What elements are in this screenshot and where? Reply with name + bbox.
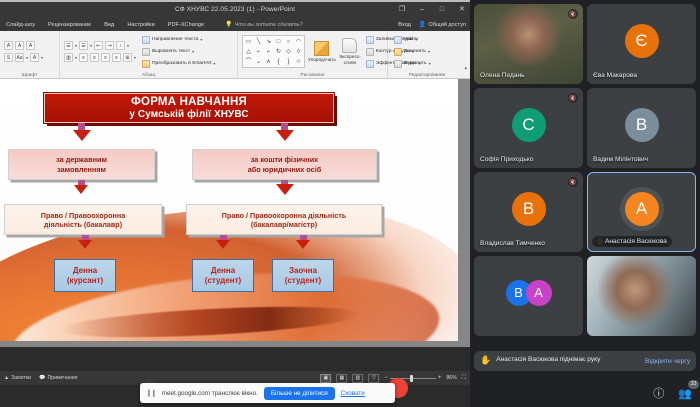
program-left-line1: Право / Правоохоронна — [41, 211, 125, 220]
arrange-icon — [314, 41, 329, 56]
tell-me-placeholder: Что вы хотите сделать? — [235, 22, 303, 28]
hide-toast-link[interactable]: Сховати — [341, 390, 365, 397]
ribbon-group-editing: Найти Заменить ▾ — [388, 31, 466, 78]
tell-me-search[interactable]: 💡 Что вы хотите сделать? — [225, 21, 302, 28]
arrow-down-icon — [74, 185, 88, 194]
participant-name: Анастасія Васюкова — [592, 236, 672, 247]
slide-title-line2: у Сумській філії ХНУВС — [129, 109, 248, 120]
replace-icon — [394, 48, 402, 56]
shape-cell[interactable]: ⌐ — [254, 47, 263, 56]
slide-canvas[interactable]: ФОРМА НАВЧАННЯ у Сумській філії ХНУВС за… — [0, 79, 458, 341]
shape-cell[interactable]: ↻ — [274, 47, 283, 56]
participant-name: Вадим Мілінтович — [593, 156, 648, 163]
smartart-icon — [142, 60, 150, 68]
convert-smartart-label: Преобразовать в SmartArt — [152, 61, 211, 66]
arrow-down-icon — [216, 240, 230, 249]
participant-video — [587, 256, 696, 336]
replace-label: Заменить — [404, 49, 426, 54]
avatar: С — [512, 108, 546, 142]
powerpoint-ribbon: A A A S Aa ▾ A ▾ Шрифт — [0, 31, 470, 79]
share-button[interactable]: 👤 Общий доступ — [419, 21, 466, 28]
shape-cell[interactable]: □ — [274, 37, 283, 46]
columns-button[interactable]: ▥ — [64, 53, 73, 62]
shape-cell[interactable]: } — [284, 57, 293, 66]
align-text-label: Выровнять текст — [152, 49, 190, 54]
mic-off-icon: 🔇 — [568, 93, 578, 103]
convert-smartart-button[interactable]: Преобразовать в SmartArt ▾ — [140, 59, 217, 69]
arrow-down-icon — [276, 130, 294, 141]
close-button[interactable]: ✕ — [457, 5, 467, 15]
people-count-badge: 33 — [688, 380, 699, 389]
participant-tile[interactable]: В 🔇 Владислав Тимченко — [474, 172, 583, 252]
form-2-line1: Денна — [211, 266, 235, 276]
slide-title-line1: ФОРМА НАВЧАННЯ — [131, 96, 247, 108]
quick-styles-icon — [342, 38, 357, 53]
participant-tile-active-speaker[interactable]: А ✋ Анастасія Васюкова — [587, 172, 696, 252]
powerpoint-menubar: Слайд-шоу Рецензирование Вид Настройки P… — [0, 18, 470, 31]
status-bar-left: ▲ Заметки 💬 Примечания — [4, 375, 77, 381]
font-case-button[interactable]: Aa — [15, 53, 24, 62]
zoom-in-button[interactable]: + — [438, 375, 442, 381]
powerpoint-titlebar: СФ ХНУВС 22.05.2023 (1) - PowerPoint ❐ –… — [0, 0, 470, 18]
find-label: Найти — [404, 37, 418, 42]
funding-private-line1: за кошти фізичних — [251, 155, 319, 164]
line-spacing-caret-icon[interactable]: ▾ — [127, 43, 129, 48]
select-icon — [394, 60, 402, 68]
zoom-out-button[interactable]: − — [384, 375, 388, 381]
shapes-gallery[interactable]: ▭ ╲ ↘ □ ○ ◠ △ ⌐ ⌐ ↻ ◇ ◊ ⌒ — [242, 35, 305, 68]
smartart-caret-icon: ▾ — [213, 61, 215, 66]
menubar-right: Вход 👤 Общий доступ — [398, 21, 466, 28]
shape-cell[interactable]: ↘ — [264, 37, 273, 46]
select-label: Выделить — [404, 61, 427, 66]
slide-editing-area: ФОРМА НАВЧАННЯ у Сумській філії ХНУВС за… — [0, 79, 470, 347]
font-color-button[interactable]: A — [30, 53, 39, 62]
avatar: А — [526, 280, 552, 306]
hand-raised-icon: ✋ — [480, 356, 491, 366]
funding-state-line1: за державним — [56, 155, 107, 164]
form-2-line2: (студент) — [205, 276, 241, 286]
program-box-left[interactable]: Право / Правоохоронна діяльність (бакала… — [4, 204, 162, 235]
grouped-avatars: В А — [506, 280, 552, 306]
shape-cell[interactable]: △ — [244, 47, 253, 56]
columns-caret-icon[interactable]: ▾ — [75, 55, 77, 60]
avatar: В — [625, 108, 659, 142]
window-controls: ❐ – □ ✕ — [397, 5, 467, 15]
bullets-caret-icon[interactable]: ▾ — [75, 43, 77, 48]
align-text-button[interactable]: Выровнять текст ▾ — [140, 47, 196, 57]
participant-name: Єва Макарова — [593, 72, 637, 79]
ribbon-group-font: A A A S Aa ▾ A ▾ Шрифт — [0, 31, 60, 78]
restore-button[interactable]: ❐ — [397, 5, 407, 15]
view-sorter-button[interactable]: ▦ — [336, 374, 347, 383]
funding-private-line2: або юридичних осіб — [248, 165, 322, 174]
avatar: А — [625, 192, 659, 226]
funding-box-private[interactable]: за кошти фізичних або юридичних осіб — [192, 149, 377, 180]
form-box-distance-student[interactable]: Заочна (студент) — [272, 259, 334, 292]
shape-cell[interactable]: ◊ — [294, 47, 303, 56]
search-icon — [394, 36, 402, 44]
find-button[interactable]: Найти — [392, 35, 420, 45]
form-3-line1: Заочна — [289, 266, 317, 276]
quick-styles-button[interactable]: Экспресс-стили — [339, 34, 361, 70]
mic-off-icon: 🔇 — [568, 9, 578, 19]
arrow-down-icon — [296, 240, 310, 249]
participant-name: Олена Педань — [480, 72, 525, 79]
shape-cell[interactable]: ╲ — [254, 37, 263, 46]
program-box-right[interactable]: Право / Правоохоронна діяльність (бакала… — [186, 204, 382, 235]
shape-cell[interactable]: { — [274, 57, 283, 66]
program-right-line1: Право / Правоохоронна діяльність — [222, 211, 346, 220]
clear-format-button[interactable]: A — [26, 41, 35, 50]
form-box-day-cadet[interactable]: Денна (курсант) — [54, 259, 116, 292]
decrease-indent-button[interactable]: ⇤ — [94, 41, 103, 50]
slide-title-box[interactable]: ФОРМА НАВЧАННЯ у Сумській філії ХНУВС — [44, 93, 334, 123]
shape-cell[interactable]: ⌒ — [244, 57, 253, 66]
notes-button[interactable]: ▲ Заметки — [4, 375, 31, 381]
powerpoint-window: СФ ХНУВС 22.05.2023 (1) - PowerPoint ❐ –… — [0, 0, 470, 407]
align-justify-button[interactable]: ≡ — [112, 53, 121, 62]
shape-cell[interactable]: ⌄ — [254, 57, 263, 66]
shape-cell[interactable]: ∧ — [264, 57, 273, 66]
pause-icon[interactable]: ❙❙ — [146, 389, 156, 397]
text-direction-icon — [142, 36, 150, 44]
funding-box-state[interactable]: за державним замовленням — [8, 149, 155, 180]
shape-cell[interactable]: ⌐ — [264, 47, 273, 56]
view-reading-button[interactable]: ▥ — [352, 374, 363, 383]
stop-sharing-button[interactable]: Більше не ділитися — [264, 387, 335, 400]
comments-icon: 💬 — [39, 375, 45, 381]
menu-item-review[interactable]: Рецензирование — [48, 22, 91, 28]
ribbon-group-paragraph: ☰ ▾ ☰ ▾ ⇤ ⇥ ↕ ▾ ▥ ▾ — [60, 31, 238, 78]
bullets-button[interactable]: ☰ — [64, 41, 73, 50]
shape-cell[interactable]: ◇ — [284, 47, 293, 56]
increase-indent-button[interactable]: ⇥ — [105, 41, 114, 50]
font-color-caret-icon[interactable]: ▾ — [41, 55, 43, 60]
notes-icon: ▲ — [4, 375, 9, 381]
font-grow-button[interactable]: A — [4, 41, 13, 50]
avatar: В — [512, 192, 546, 226]
replace-button[interactable]: Заменить ▾ — [392, 47, 432, 57]
arrange-label: Упорядочить — [308, 57, 336, 62]
people-icon[interactable]: 👥 33 — [678, 387, 692, 400]
text-direction-button[interactable]: Направление текста ▾ — [140, 35, 204, 45]
shape-cell[interactable]: ☆ — [294, 57, 303, 66]
info-icon[interactable]: ⓘ — [653, 385, 664, 401]
ribbon-group-label-drawing: Рисование — [238, 73, 387, 78]
form-box-day-student[interactable]: Денна (студент) — [192, 259, 254, 292]
quick-styles-label: Экспресс-стили — [339, 54, 361, 65]
screen: СФ ХНУВС 22.05.2023 (1) - PowerPoint ❐ –… — [0, 0, 700, 407]
add-columns-button[interactable]: ⊞ — [123, 53, 132, 62]
text-direction-label: Направление текста — [152, 37, 198, 42]
participant-name: Софія Приходько — [480, 156, 533, 163]
maximize-button[interactable]: □ — [437, 5, 447, 15]
form-3-line2: (студент) — [285, 276, 321, 286]
line-spacing-button[interactable]: ↕ — [116, 41, 125, 50]
numbering-caret-icon[interactable]: ▾ — [90, 43, 92, 48]
participant-tile[interactable]: 🔇 Олена Педань — [474, 4, 583, 84]
participant-tile-group[interactable]: В А — [474, 256, 583, 336]
arrow-down-icon — [276, 184, 294, 195]
numbering-button[interactable]: ☰ — [79, 41, 88, 50]
view-slideshow-button[interactable]: ▽ — [368, 374, 379, 383]
form-1-line1: Денна — [73, 266, 97, 276]
minimize-button[interactable]: – — [417, 5, 427, 15]
participant-tile[interactable]: С 🔇 Софія Приходько — [474, 88, 583, 168]
ribbon-group-drawing: ▭ ╲ ↘ □ ○ ◠ △ ⌐ ⌐ ↻ ◇ ◊ ⌒ — [238, 31, 388, 78]
meet-bottom-bar: ✋ Анастасія Васюкова піднімає руку Відкр… — [470, 340, 700, 407]
align-right-button[interactable]: ≡ — [101, 53, 110, 62]
arrow-down-icon — [78, 240, 92, 249]
funding-state-line2: замовленням — [57, 165, 106, 174]
screen-share-toast: ❙❙ meet.google.com транслює вікно. Більш… — [140, 383, 395, 403]
align-text-icon — [142, 48, 150, 56]
form-1-line2: (курсант) — [67, 276, 103, 286]
collapse-ribbon-icon[interactable]: ▴ — [464, 65, 467, 71]
zoom-slider-handle[interactable] — [410, 375, 413, 382]
participant-tile[interactable] — [587, 256, 696, 336]
shape-cell[interactable]: ◠ — [294, 37, 303, 46]
arrange-button[interactable]: Упорядочить — [308, 34, 336, 70]
menu-item-view[interactable]: Вид — [104, 22, 114, 28]
arrow-down-icon — [73, 130, 91, 141]
meet-controls: ⓘ 👥 33 — [653, 385, 692, 401]
select-caret-icon: ▾ — [429, 61, 431, 66]
font-case-caret-icon[interactable]: ▾ — [26, 55, 28, 60]
zoom-percent[interactable]: 86% — [446, 375, 456, 381]
shape-fill-icon — [366, 36, 374, 44]
align-left-button[interactable]: ≡ — [79, 53, 88, 62]
share-label: Общий доступ — [428, 22, 466, 28]
notes-label: Заметки — [11, 375, 31, 381]
select-button[interactable]: Выделить ▾ — [392, 59, 433, 69]
google-meet-panel: 🔇 Олена Педань Є Єва Макарова С 🔇 Софія … — [470, 0, 700, 407]
signin-button[interactable]: Вход — [398, 22, 411, 28]
shape-cell[interactable]: ○ — [284, 37, 293, 46]
ribbon-group-label-paragraph: Абзац — [60, 73, 237, 78]
fit-to-window-icon[interactable]: ⛶ — [462, 375, 466, 382]
comments-label: Примечания — [47, 375, 77, 381]
replace-caret-icon: ▾ — [428, 49, 430, 54]
lightbulb-icon: 💡 — [225, 21, 232, 28]
font-strike-button[interactable]: S — [4, 53, 13, 62]
participant-tile[interactable]: В Вадим Мілінтович — [587, 88, 696, 168]
participant-name: Владислав Тимченко — [480, 240, 545, 247]
comments-button[interactable]: 💬 Примечания — [39, 375, 77, 381]
program-right-line2: (бакалавр/магістр) — [251, 220, 317, 229]
participant-tile[interactable]: Є Єва Макарова — [587, 4, 696, 84]
avatar: Є — [625, 24, 659, 58]
menu-item-pdfxchange[interactable]: PDF-XChange — [168, 22, 204, 28]
person-icon: 👤 — [419, 21, 426, 28]
menu-item-slideshow[interactable]: Слайд-шоу — [6, 22, 35, 28]
open-queue-link[interactable]: Відкрити чергу — [645, 358, 690, 365]
ribbon-group-label-editing: Редактирование — [388, 73, 466, 78]
shape-cell[interactable]: ▭ — [244, 37, 253, 46]
view-normal-button[interactable]: ▣ — [320, 374, 331, 383]
ribbon-group-label-font: Шрифт — [0, 73, 59, 78]
shape-outline-icon — [366, 48, 374, 56]
shape-effects-icon — [366, 60, 374, 68]
align-text-caret-icon: ▾ — [192, 49, 194, 54]
font-shrink-button[interactable]: A — [15, 41, 24, 50]
share-toast-message: meet.google.com транслює вікно. — [162, 390, 258, 397]
mic-off-icon: 🔇 — [568, 177, 578, 187]
menu-item-settings[interactable]: Настройки — [127, 22, 154, 28]
hand-raise-toast: ✋ Анастасія Васюкова піднімає руку Відкр… — [474, 351, 696, 371]
add-columns-caret-icon[interactable]: ▾ — [134, 55, 136, 60]
align-center-button[interactable]: ≡ — [90, 53, 99, 62]
participant-grid: 🔇 Олена Педань Є Єва Макарова С 🔇 Софія … — [470, 0, 700, 340]
program-left-line2: діяльність (бакалавр) — [44, 220, 122, 229]
text-direction-caret-icon: ▾ — [200, 37, 202, 42]
hand-raise-message: Анастасія Васюкова піднімає руку — [496, 356, 640, 365]
